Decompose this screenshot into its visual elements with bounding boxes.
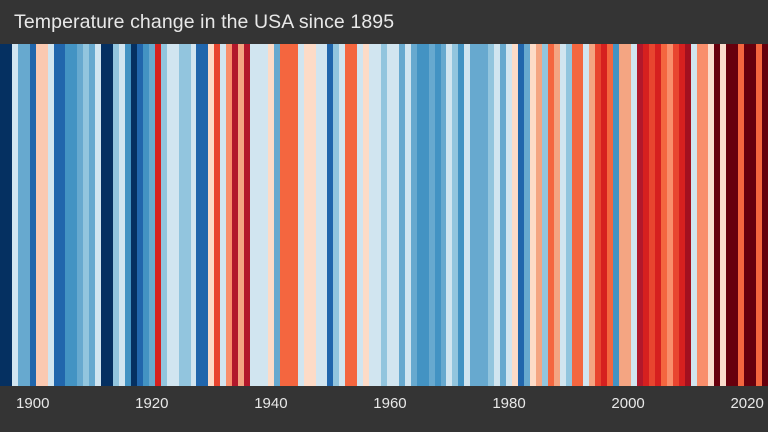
stripes-plot-area [0, 44, 768, 386]
x-tick-label: 1900 [16, 395, 49, 412]
x-axis: 1900192019401960198020002020 [0, 386, 768, 432]
x-tick-label: 1980 [492, 395, 525, 412]
x-tick-label: 1940 [254, 395, 287, 412]
year-stripe [762, 44, 768, 386]
x-tick-label: 2000 [611, 395, 644, 412]
x-tick-label: 1960 [373, 395, 406, 412]
x-tick-label: 1920 [135, 395, 168, 412]
warming-stripes-figure: Temperature change in the USA since 1895… [0, 0, 768, 432]
x-tick-label: 2020 [730, 395, 763, 412]
page-title: Temperature change in the USA since 1895 [14, 6, 394, 38]
